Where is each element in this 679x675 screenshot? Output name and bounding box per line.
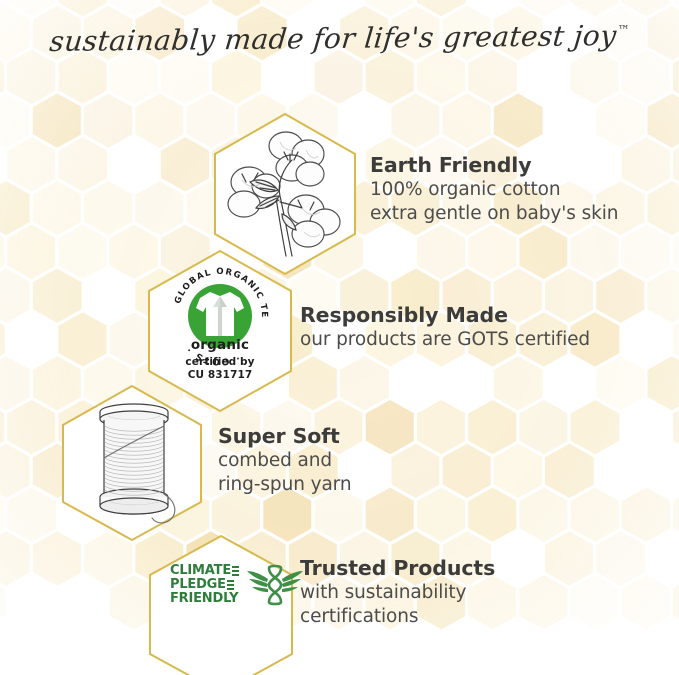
- infographic-canvas: sustainably made for life's greatest joy…: [0, 0, 679, 675]
- feature-title-earth-friendly: Earth Friendly: [370, 153, 618, 177]
- gots-label-text: organic certified by CU 831717: [145, 338, 295, 382]
- cpf-line-3: FRIENDLY: [170, 592, 238, 606]
- feature-line-trusted-products-1: with sustainability: [300, 581, 495, 605]
- icon-climate-pledge-friendly: CLIMATE PLEDGE FRIENDLY: [170, 563, 303, 607]
- text-block-earth-friendly: Earth Friendly 100% organic cotton extra…: [370, 153, 618, 226]
- page-title-text: sustainably made for life's greatest joy: [49, 19, 619, 58]
- cpf-line-2: PLEDGE: [170, 578, 226, 592]
- cotton-branch-icon: [222, 124, 350, 264]
- feature-line-responsibly-made-1: our products are GOTS certified: [300, 328, 590, 352]
- gots-organic-label: organic: [145, 338, 295, 353]
- page-title: sustainably made for life's greatest joy…: [0, 22, 679, 55]
- feature-line-earth-friendly-2: extra gentle on baby's skin: [370, 202, 618, 226]
- trademark-symbol: ™: [618, 23, 630, 37]
- feature-title-responsibly-made: Responsibly Made: [300, 303, 590, 327]
- thread-spool-icon: [78, 396, 190, 530]
- climate-pledge-wordmark: CLIMATE PLEDGE FRIENDLY: [170, 564, 239, 606]
- feature-line-super-soft-2: ring-spun yarn: [218, 473, 352, 497]
- feature-line-trusted-products-2: certifications: [300, 605, 495, 629]
- cpf-bars-icon-2: [227, 579, 234, 590]
- icon-thread-spool: [78, 396, 190, 535]
- feature-line-earth-friendly-1: 100% organic cotton: [370, 178, 618, 202]
- text-block-trusted-products: Trusted Products with sustainability cer…: [300, 556, 495, 629]
- winged-hourglass-icon: [247, 563, 303, 607]
- text-block-responsibly-made: Responsibly Made our products are GOTS c…: [300, 303, 590, 352]
- feature-line-super-soft-1: combed and: [218, 449, 352, 473]
- icon-cotton-branch: [222, 124, 350, 269]
- cpf-bars-icon-1: [232, 565, 239, 576]
- gots-certified-by-label: certified by: [145, 356, 295, 369]
- cpf-line-1: CLIMATE: [170, 564, 231, 578]
- feature-title-super-soft: Super Soft: [218, 424, 352, 448]
- text-block-super-soft: Super Soft combed and ring-spun yarn: [218, 424, 352, 497]
- feature-title-trusted-products: Trusted Products: [300, 556, 495, 580]
- gots-license-number: CU 831717: [145, 369, 295, 382]
